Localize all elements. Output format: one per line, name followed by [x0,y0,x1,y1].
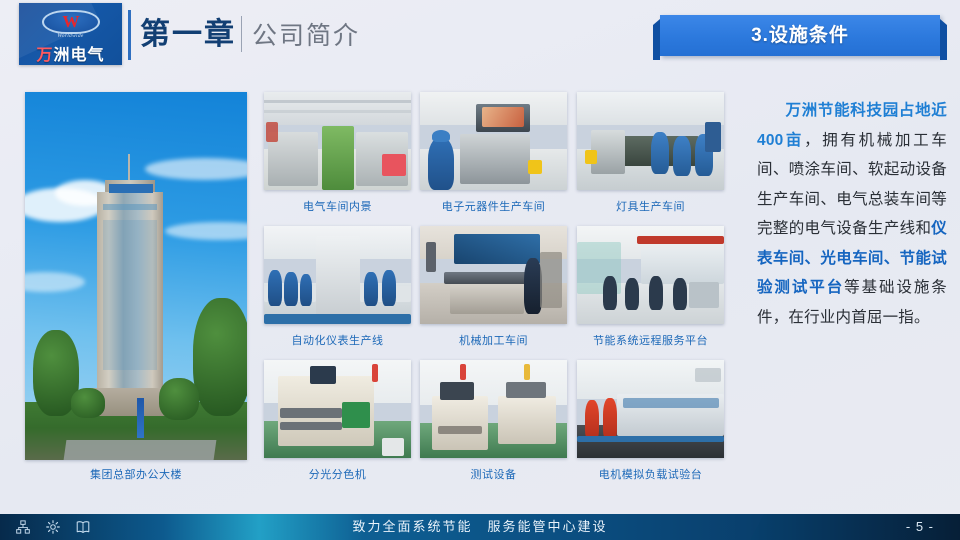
slide-footer: 致力全面系统节能 服务能管中心建设 - 5 - [0,514,960,540]
chapter-title: 第一章 [140,16,236,54]
logo-name-rest: 洲电气 [54,47,105,64]
caption-lamp-production-workshop: 灯具生产车间 [577,200,724,214]
logo-name-first: 万 [36,47,53,64]
caption-machining-workshop: 机械加工车间 [420,334,567,348]
photo-motor-load-test-bench [577,360,724,458]
photo-headquarters-building [25,92,247,460]
caption-testing-equipment: 测试设备 [420,468,567,482]
chapter-subtitle: 公司简介 [252,18,360,54]
photo-lamp-production-workshop [577,92,724,190]
page-number: - 5 - [906,514,934,540]
photo-automatic-instrument-line [264,226,411,324]
chapter-separator [241,16,242,52]
logo-emblem-icon: W [42,10,100,34]
footer-slogan: 致力全面系统节能 服务能管中心建设 [0,514,960,540]
description-paragraph: 万洲节能科技园占地近400亩，拥有机械加工车间、喷涂车间、软起动设备生产车间、电… [757,96,947,332]
caption-motor-load-test-bench: 电机模拟负载试验台 [577,468,724,482]
photo-machining-workshop [420,226,567,324]
photo-testing-equipment [420,360,567,458]
header-divider [128,10,131,60]
logo-w-mark: W [42,12,100,32]
logo-company-name: 万洲电气 [19,41,122,65]
caption-headquarters-building: 集团总部办公大楼 [25,468,247,482]
photo-spectrophotometer-machine [264,360,411,458]
slide-header: W Worldwide 万洲电气 第一章 公司简介 3.设施条件 [0,0,960,78]
section-banner: 3.设施条件 [660,15,940,56]
caption-electrical-workshop-interior: 电气车间内景 [264,200,411,214]
photo-electronic-components-workshop [420,92,567,190]
caption-spectrophotometer-machine: 分光分色机 [264,468,411,482]
section-banner-label: 3.设施条件 [660,15,940,56]
logo-subtitle: Worldwide [19,33,122,39]
slide: W Worldwide 万洲电气 第一章 公司简介 3.设施条件 [0,0,960,540]
caption-remote-energy-service-platform: 节能系统远程服务平台 [577,334,724,348]
company-logo: W Worldwide 万洲电气 [19,3,122,65]
photo-remote-energy-service-platform [577,226,724,324]
caption-electronic-components-workshop: 电子元器件生产车间 [420,200,567,214]
photo-electrical-workshop-interior [264,92,411,190]
description-panel: 万洲节能科技园占地近400亩，拥有机械加工车间、喷涂车间、软起动设备生产车间、电… [757,96,947,496]
caption-automatic-instrument-line: 自动化仪表生产线 [264,334,411,348]
